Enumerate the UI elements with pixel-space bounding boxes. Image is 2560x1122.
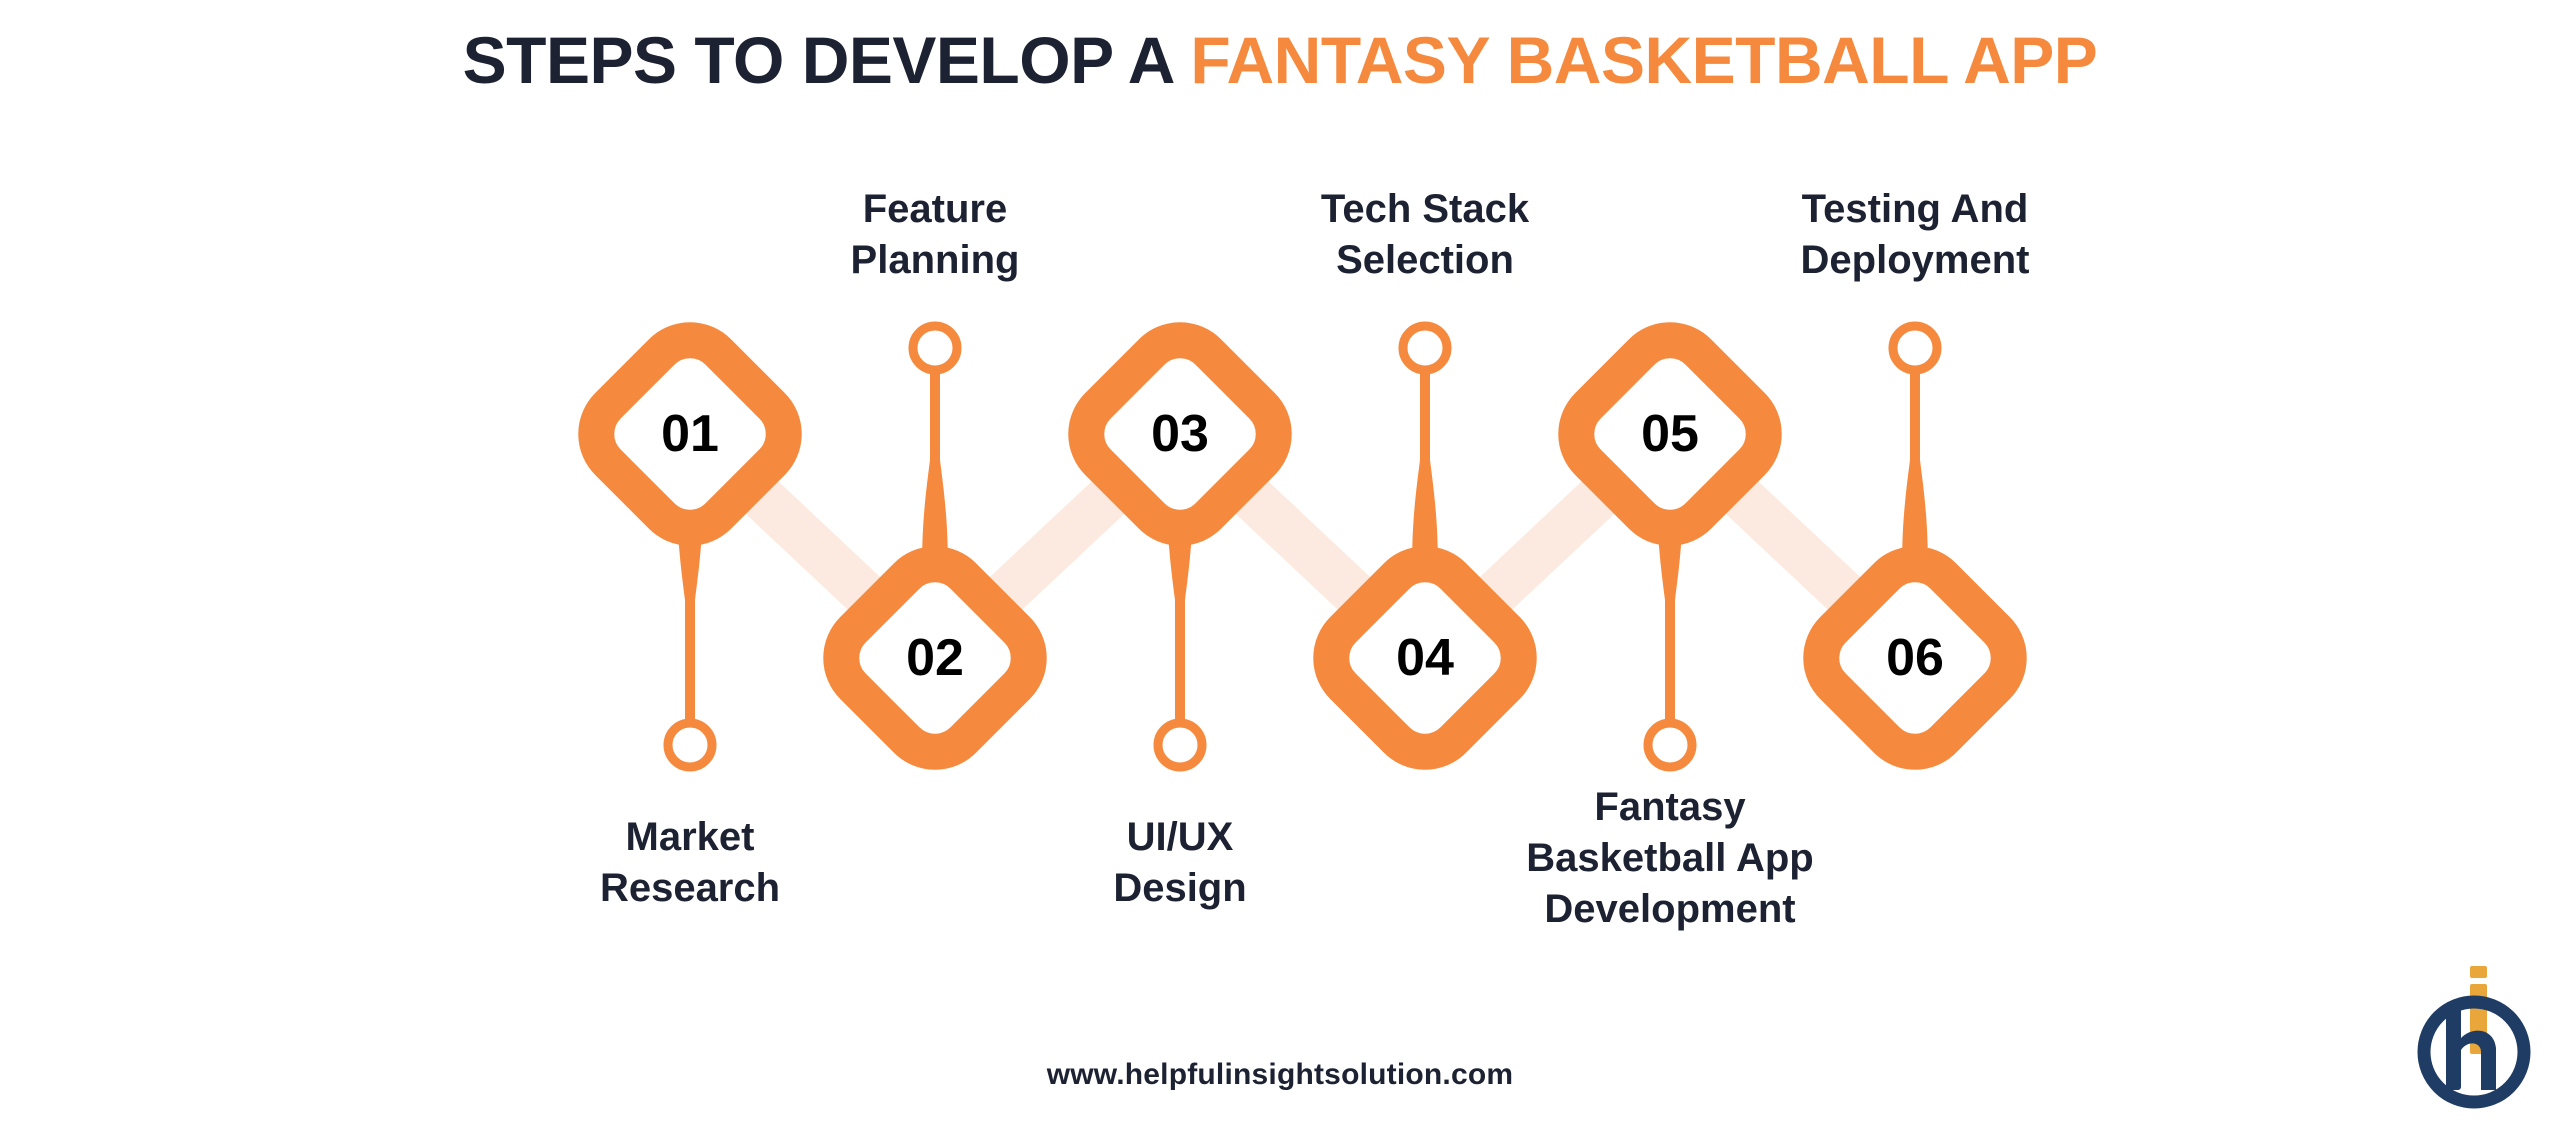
step-number-02: 02: [835, 628, 1035, 688]
step-stem-06: [1902, 370, 1928, 660]
step-stem-02: [922, 370, 948, 660]
step-node-04[interactable]: [1315, 326, 1536, 768]
connector-band-2-3: [935, 430, 1180, 660]
footer-website-url[interactable]: www.helpfulinsightsolution.com: [0, 1058, 2560, 1092]
page-title: STEPS TO DEVELOP A FANTASY BASKETBALL AP…: [0, 26, 2560, 95]
step-number-01: 01: [590, 404, 790, 464]
page-title-accent-part: FANTASY BASKETBALL APP: [1190, 23, 2097, 97]
step-number-05: 05: [1570, 404, 1770, 464]
step-endpoint-circle-02: [913, 326, 957, 370]
step-label-02: Feature Planning: [725, 184, 1145, 286]
step-node-03[interactable]: [1070, 324, 1291, 767]
step-label-01: Market Research: [480, 812, 900, 914]
step-number-04: 04: [1325, 628, 1525, 688]
step-endpoint-circle-04: [1403, 326, 1447, 370]
step-number-03: 03: [1080, 404, 1280, 464]
step-node-01[interactable]: [580, 324, 801, 767]
step-endpoint-circle-01: [668, 723, 712, 767]
connector-band-3-4: [1180, 430, 1425, 660]
connector-band-1-2: [690, 430, 935, 660]
step-label-03: UI/UX Design: [970, 812, 1390, 914]
step-number-06: 06: [1815, 628, 2015, 688]
page-title-dark-part: STEPS TO DEVELOP A: [463, 23, 1191, 97]
brand-logo[interactable]: [2412, 964, 2542, 1114]
step-node-05[interactable]: [1560, 324, 1781, 767]
connector-band-5-6: [1670, 430, 1915, 660]
connector-bands: [690, 430, 1915, 660]
connector-band-4-5: [1425, 430, 1670, 660]
steps-diagram: [0, 0, 2560, 1122]
step-node-02[interactable]: [825, 326, 1046, 768]
step-label-06: Testing And Deployment: [1705, 184, 2125, 286]
step-stem-04: [1412, 370, 1438, 660]
step-endpoint-circle-05: [1648, 723, 1692, 767]
infographic-page: STEPS TO DEVELOP A FANTASY BASKETBALL AP…: [0, 0, 2560, 1122]
step-label-05: Fantasy Basketball App Development: [1460, 782, 1880, 936]
step-node-06[interactable]: [1805, 326, 2026, 768]
step-endpoint-circle-06: [1893, 326, 1937, 370]
step-endpoint-circle-03: [1158, 723, 1202, 767]
step-label-04: Tech Stack Selection: [1215, 184, 1635, 286]
